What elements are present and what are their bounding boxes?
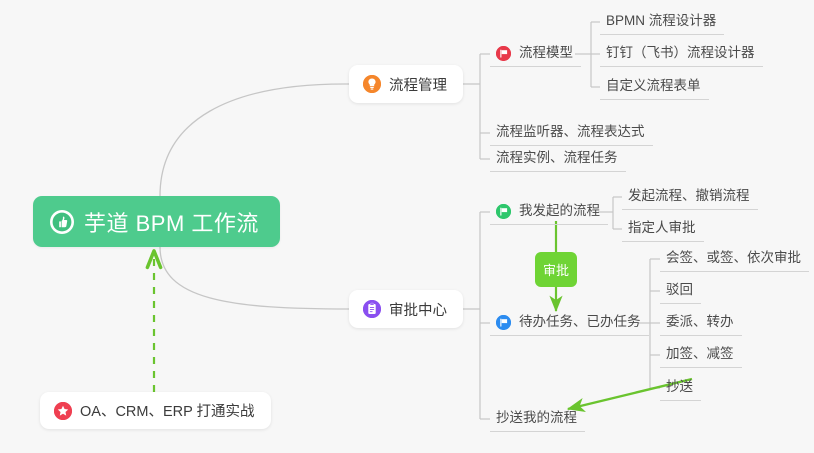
integration-callout[interactable]: OA、CRM、ERP 打通实战 xyxy=(40,392,271,429)
star-icon xyxy=(54,402,72,420)
node-label: 流程实例、流程任务 xyxy=(496,151,618,165)
link-root-to-process-management xyxy=(160,84,349,196)
node-approval-center[interactable]: 审批中心 xyxy=(349,290,463,328)
approval-tag[interactable]: 审批 xyxy=(535,252,577,287)
node-todo-done-tasks[interactable]: 待办任务、已办任务 xyxy=(490,309,649,336)
node-assignee-approval[interactable]: 指定人审批 xyxy=(622,215,704,242)
node-process-instance-task[interactable]: 流程实例、流程任务 xyxy=(490,145,626,172)
node-reject[interactable]: 驳回 xyxy=(660,277,701,304)
node-countersign-orsign-sequential[interactable]: 会签、或签、依次审批 xyxy=(660,245,809,272)
node-dingtalk-feishu-designer[interactable]: 钉钉（飞书）流程设计器 xyxy=(600,40,763,67)
node-process-model[interactable]: 流程模型 xyxy=(490,40,581,67)
thumbs-up-icon xyxy=(50,210,74,234)
node-cc[interactable]: 抄送 xyxy=(660,374,701,401)
flag-icon xyxy=(496,315,511,330)
node-label: 钉钉（飞书）流程设计器 xyxy=(606,46,755,60)
node-delegate-transfer[interactable]: 委派、转办 xyxy=(660,309,742,336)
node-label: 驳回 xyxy=(666,283,693,297)
clipboard-icon xyxy=(363,300,381,318)
node-bpmn-designer[interactable]: BPMN 流程设计器 xyxy=(600,8,724,35)
node-label: 指定人审批 xyxy=(628,221,696,235)
root-node[interactable]: 芋道 BPM 工作流 xyxy=(33,196,280,247)
node-process-management[interactable]: 流程管理 xyxy=(349,65,463,103)
node-label: 流程监听器、流程表达式 xyxy=(496,125,645,139)
node-cc-to-me-processes[interactable]: 抄送我的流程 xyxy=(490,405,585,432)
node-label: 审批中心 xyxy=(389,299,447,320)
node-add-remove-sign[interactable]: 加签、减签 xyxy=(660,341,742,368)
node-my-initiated-processes[interactable]: 我发起的流程 xyxy=(490,198,608,225)
node-label: 加签、减签 xyxy=(666,347,734,361)
node-custom-process-form[interactable]: 自定义流程表单 xyxy=(600,73,709,100)
node-label: 抄送我的流程 xyxy=(496,411,577,425)
flag-icon xyxy=(496,46,511,61)
link-root-to-approval-center xyxy=(160,247,349,309)
flag-icon xyxy=(496,204,511,219)
node-label: 待办任务、已办任务 xyxy=(519,315,641,329)
node-label: 会签、或签、依次审批 xyxy=(666,251,801,265)
root-label: 芋道 BPM 工作流 xyxy=(84,206,259,238)
node-label: BPMN 流程设计器 xyxy=(606,14,716,28)
lightbulb-icon xyxy=(363,75,381,93)
integration-callout-label: OA、CRM、ERP 打通实战 xyxy=(80,400,255,421)
node-label: 发起流程、撤销流程 xyxy=(628,189,750,203)
node-label: 委派、转办 xyxy=(666,315,734,329)
node-label: 流程管理 xyxy=(389,74,447,95)
node-start-cancel-process[interactable]: 发起流程、撤销流程 xyxy=(622,183,758,210)
mindmap-canvas: 芋道 BPM 工作流 流程管理 流程模型 BPMN 流程设计器 钉钉 xyxy=(0,0,814,453)
node-label: 流程模型 xyxy=(519,46,573,60)
node-label: 我发起的流程 xyxy=(519,204,600,218)
approval-tag-label: 审批 xyxy=(543,260,569,279)
node-label: 自定义流程表单 xyxy=(606,79,701,93)
node-process-listener-expression[interactable]: 流程监听器、流程表达式 xyxy=(490,119,653,146)
node-label: 抄送 xyxy=(666,380,693,394)
